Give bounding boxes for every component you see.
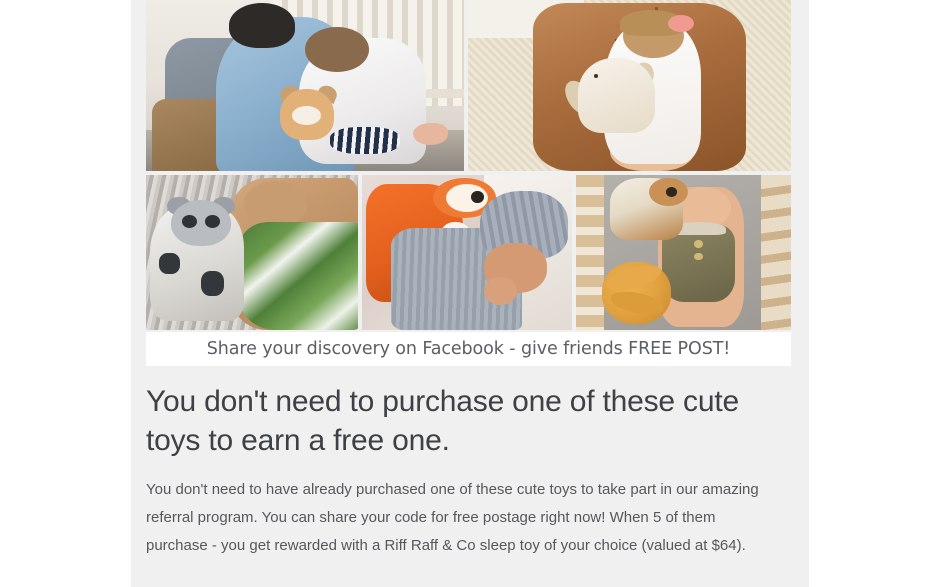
photo-scene [576, 175, 791, 330]
content-column: Parent in light blue shirt holding baby … [131, 0, 809, 587]
referral-photo-collage: Parent in light blue shirt holding baby … [146, 0, 791, 330]
collage-photo-toddler-beanbag[interactable]: ✕ ✕ Toddler with pink hair bow sitting o… [468, 0, 791, 171]
facebook-share-banner[interactable]: Share your discovery on Facebook - give … [146, 332, 791, 366]
page-title: You don't need to purchase one of these … [146, 382, 786, 460]
collage-photo-newborn-leaf-swaddle[interactable]: Newborn in green palm leaf swaddle on gr… [146, 175, 358, 330]
collage-photo-parent-and-baby[interactable]: Parent in light blue shirt holding baby … [146, 0, 464, 171]
photo-scene [362, 175, 572, 330]
article-body-paragraph: You don't need to have already purchased… [146, 476, 780, 560]
collage-photo-baby-in-cot[interactable]: Baby in olive romper sleeping in wooden … [576, 175, 791, 330]
article-text-block: You don't need to purchase one of these … [146, 382, 794, 560]
facebook-share-banner-label: Share your discovery on Facebook - give … [207, 339, 730, 359]
collage-row-bottom: Newborn in green palm leaf swaddle on gr… [146, 175, 791, 330]
photo-scene: ✕ ✕ [468, 0, 791, 171]
collage-row-top: Parent in light blue shirt holding baby … [146, 0, 791, 171]
photo-scene [146, 0, 464, 171]
photo-scene [146, 175, 358, 330]
collage-photo-newborn-knit-monkey[interactable]: Newborn in grey knit outfit and beanie w… [362, 175, 572, 330]
page-root: Parent in light blue shirt holding baby … [0, 0, 940, 587]
